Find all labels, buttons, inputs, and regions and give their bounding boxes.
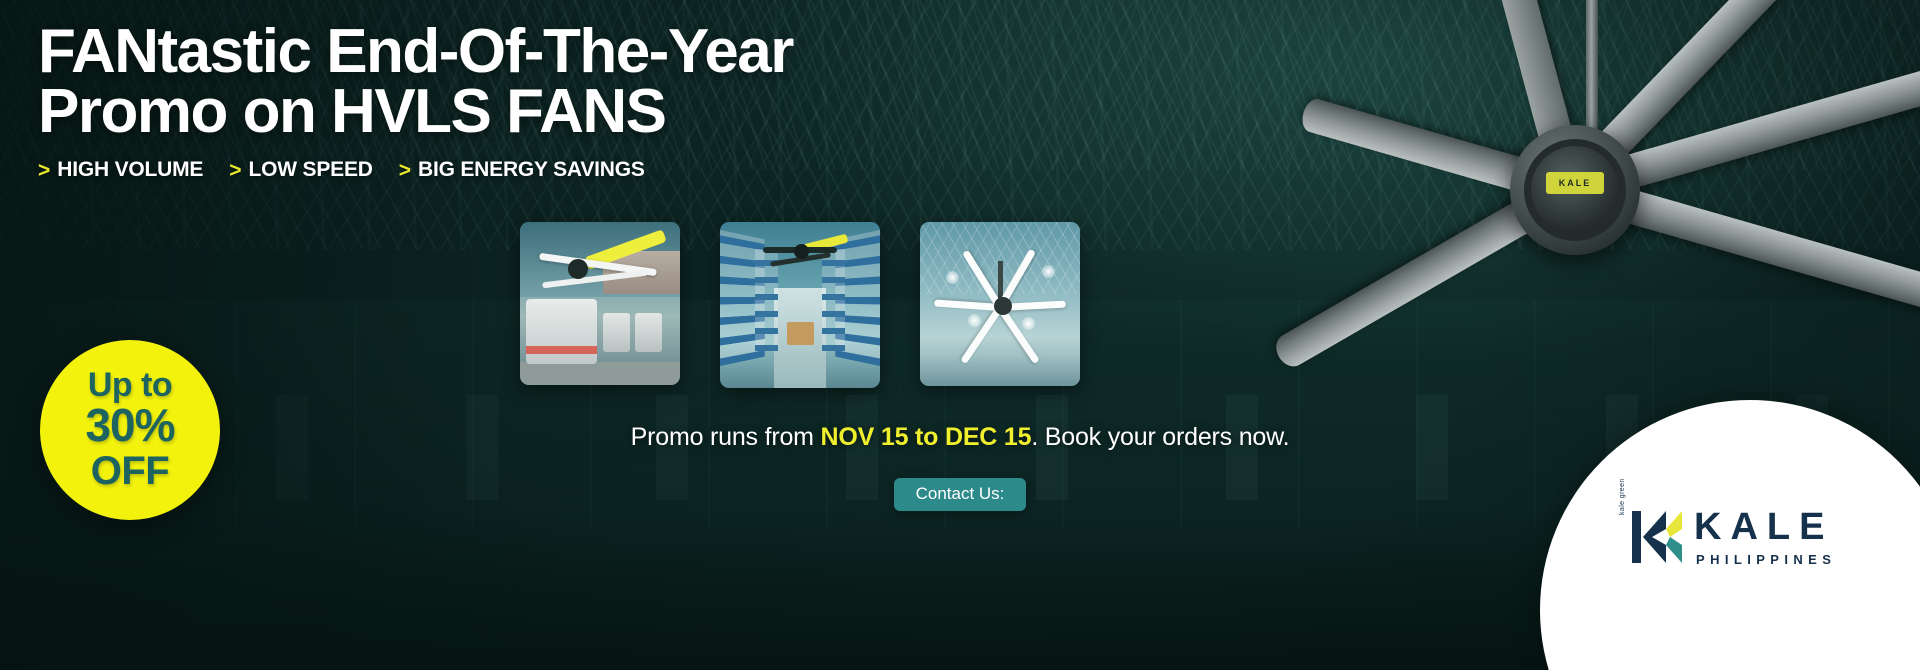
discount-badge-percent: 30% bbox=[85, 402, 174, 450]
headline-block: FANtastic End-Of-The-Year Promo on HVLS … bbox=[38, 22, 793, 182]
discount-badge-line-3: OFF bbox=[91, 450, 169, 492]
thumbnail-hvls-fan-industrial-hall[interactable] bbox=[920, 222, 1080, 386]
brand-name: KALE bbox=[1694, 508, 1836, 546]
product-thumbnail-gallery bbox=[520, 222, 1080, 388]
promo-suffix: . Book your orders now. bbox=[1031, 423, 1289, 451]
brand-logo: kale green KALE PHILIPPINES bbox=[1632, 492, 1882, 582]
feature-bullet-high-volume: > HIGH VOLUME bbox=[38, 158, 203, 182]
kale-k-logo-icon: kale green bbox=[1632, 509, 1684, 565]
headline-line-2: Promo on HVLS FANS bbox=[38, 82, 793, 142]
thumbnail-racking bbox=[822, 249, 844, 352]
promo-prefix: Promo runs from bbox=[631, 423, 821, 451]
discount-badge: Up to 30% OFF bbox=[40, 340, 220, 520]
thumbnail-lamp bbox=[968, 314, 981, 327]
chevron-right-icon: > bbox=[399, 160, 411, 181]
brand-tagline: kale green bbox=[1619, 478, 1626, 515]
thumbnail-ground bbox=[520, 362, 680, 385]
thumbnail-fan-hub bbox=[794, 244, 809, 259]
promo-banner: KALE FANtastic End-Of-The-Year Promo on … bbox=[0, 0, 1920, 670]
contact-us-button[interactable]: Contact Us: bbox=[894, 478, 1027, 511]
thumbnail-bus bbox=[603, 313, 630, 352]
page-title: FANtastic End-Of-The-Year Promo on HVLS … bbox=[38, 22, 793, 141]
thumbnail-bus-stripe bbox=[526, 346, 596, 354]
chevron-right-icon: > bbox=[229, 160, 241, 181]
chevron-right-icon: > bbox=[38, 160, 50, 181]
thumbnail-bus bbox=[635, 313, 662, 352]
thumbnail-fan-hub bbox=[994, 297, 1012, 315]
thumbnail-hvls-fan-warehouse-aisle[interactable] bbox=[720, 222, 880, 388]
feature-bullet-label: LOW SPEED bbox=[249, 158, 373, 182]
thumbnail-floor bbox=[920, 356, 1080, 386]
feature-bullet-label: BIG ENERGY SAVINGS bbox=[418, 158, 645, 182]
feature-bullet-big-energy-savings: > BIG ENERGY SAVINGS bbox=[399, 158, 645, 182]
promo-dates: NOV 15 to DEC 15 bbox=[821, 423, 1032, 451]
feature-bullet-label: HIGH VOLUME bbox=[57, 158, 203, 182]
thumbnail-lamp bbox=[1042, 265, 1055, 278]
brand-wordmark: KALE PHILIPPINES bbox=[1694, 508, 1836, 566]
feature-bullet-low-speed: > LOW SPEED bbox=[229, 158, 372, 182]
thumbnail-pallet-box bbox=[787, 322, 814, 345]
brand-subtitle: PHILIPPINES bbox=[1696, 553, 1836, 566]
headline-line-1: FANtastic End-Of-The-Year bbox=[38, 17, 793, 86]
thumbnail-hvls-fan-bus-depot[interactable] bbox=[520, 222, 680, 385]
thumbnail-lamp bbox=[946, 271, 959, 284]
discount-badge-line-1: Up to bbox=[88, 368, 172, 402]
feature-bullet-list: > HIGH VOLUME > LOW SPEED > BIG ENERGY S… bbox=[38, 158, 793, 182]
thumbnail-bus bbox=[526, 299, 596, 364]
